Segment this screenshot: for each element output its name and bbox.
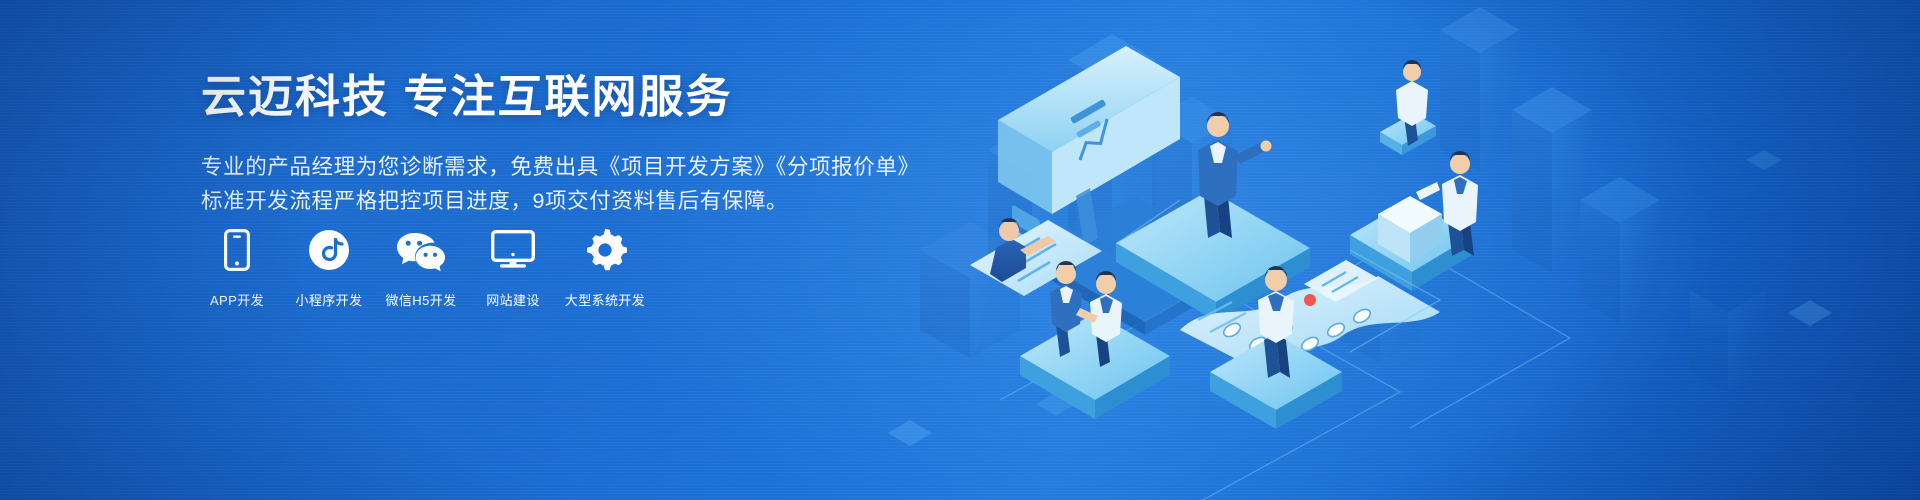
subtitle-block: 专业的产品经理为您诊断需求，免费出具《项目开发方案》《分项报价单》 标准开发流程… <box>201 150 961 218</box>
service-item-website[interactable]: 网站建设 <box>477 228 549 309</box>
monitor-icon <box>491 228 535 272</box>
promo-banner: 云迈科技 专注互联网服务 专业的产品经理为您诊断需求，免费出具《项目开发方案》《… <box>0 0 1920 500</box>
subtitle-line-2: 标准开发流程严格把控项目进度，9项交付资料售后有保障。 <box>201 184 961 218</box>
mini-program-icon <box>308 228 350 272</box>
service-item-wechat-h5[interactable]: 微信H5开发 <box>385 228 457 309</box>
service-label-wechat-h5: 微信H5开发 <box>385 290 456 309</box>
mobile-phone-icon <box>224 228 250 272</box>
service-label-large-system: 大型系统开发 <box>565 290 645 309</box>
service-item-miniprogram[interactable]: 小程序开发 <box>293 228 365 309</box>
service-label-app: APP开发 <box>210 290 264 309</box>
service-icon-row: APP开发 小程序开发 <box>201 228 641 309</box>
service-item-large-system[interactable]: 大型系统开发 <box>569 228 641 309</box>
page-title: 云迈科技 专注互联网服务 <box>201 70 961 123</box>
service-label-miniprogram: 小程序开发 <box>295 290 362 309</box>
wechat-icon <box>396 228 446 272</box>
gear-icon <box>583 228 627 272</box>
service-label-website: 网站建设 <box>486 290 540 309</box>
banner-copy: 云迈科技 专注互联网服务 专业的产品经理为您诊断需求，免费出具《项目开发方案》《… <box>201 70 961 218</box>
subtitle-line-1: 专业的产品经理为您诊断需求，免费出具《项目开发方案》《分项报价单》 <box>201 150 961 184</box>
service-item-app[interactable]: APP开发 <box>201 228 273 309</box>
hero-illustration <box>880 0 1920 500</box>
